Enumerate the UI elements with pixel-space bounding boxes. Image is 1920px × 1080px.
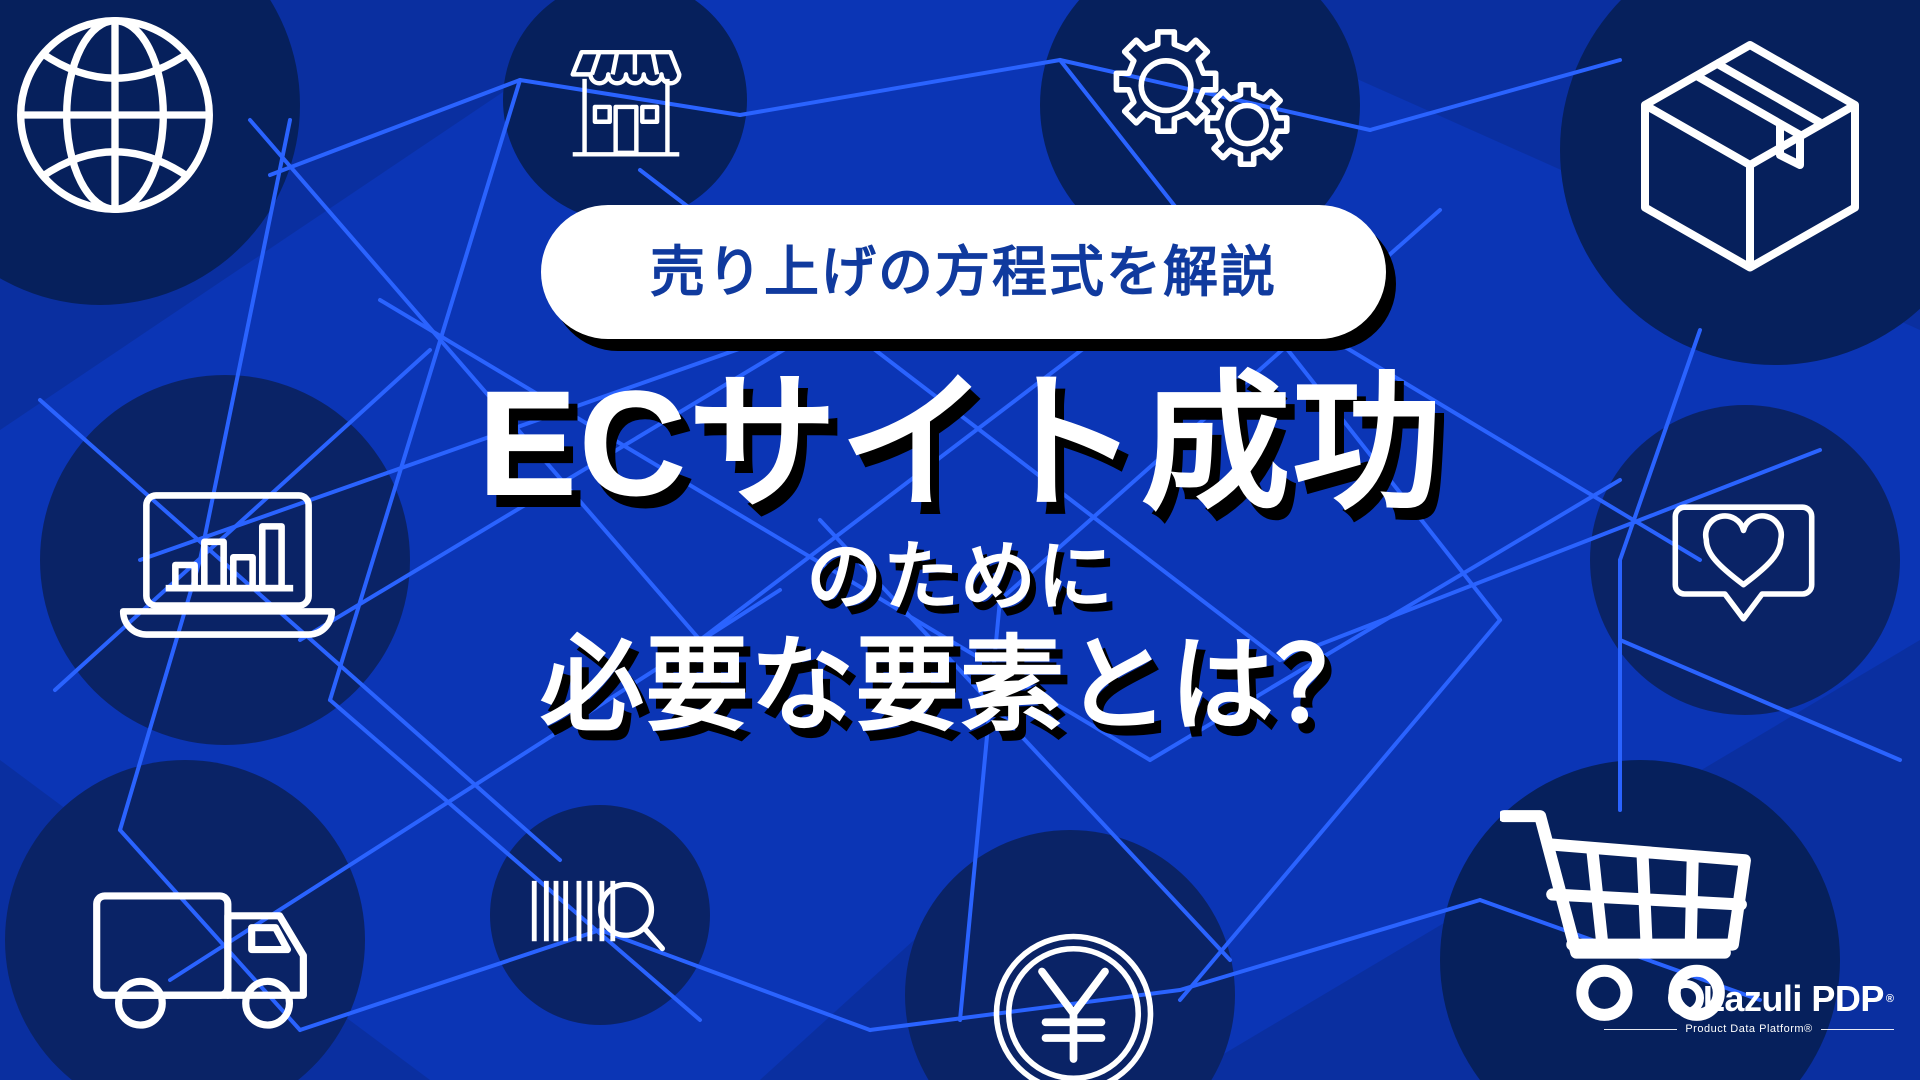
brand-logo: Lazuli PDP ® Product Data Platform® (1604, 980, 1894, 1060)
globe-icon (0, 0, 230, 230)
heart-chat-icon (1666, 488, 1821, 638)
storefront-icon (552, 30, 700, 178)
speech-bubble: 売り上げの方程式を解説 (541, 205, 1386, 339)
delivery-truck-icon (80, 880, 330, 1035)
speech-bubble-body: 売り上げの方程式を解説 (541, 205, 1386, 339)
package-box-icon (1625, 25, 1875, 275)
laptop-chart-icon (110, 480, 345, 650)
logo-wordmark: Lazuli PDP (1703, 981, 1884, 1017)
gears-icon (1085, 18, 1300, 193)
hero-banner: 売り上げの方程式を解説 ECサイト成功 のために 必要な要素とは？ Lazuli… (0, 0, 1920, 1080)
logo-lockup: Lazuli PDP ® (1668, 980, 1894, 1018)
barcode-scan-icon (527, 866, 672, 961)
yen-coin-icon (986, 926, 1161, 1080)
logo-rule-right (1821, 1029, 1894, 1030)
logo-ring-icon (1668, 980, 1704, 1016)
logo-rule-left (1604, 1029, 1677, 1030)
logo-tagline: Product Data Platform® (1685, 1023, 1812, 1035)
logo-tagline-row: Product Data Platform® (1604, 1023, 1894, 1035)
logo-registered-mark: ® (1886, 993, 1894, 1005)
speech-bubble-label: 売り上げの方程式を解説 (650, 245, 1277, 300)
